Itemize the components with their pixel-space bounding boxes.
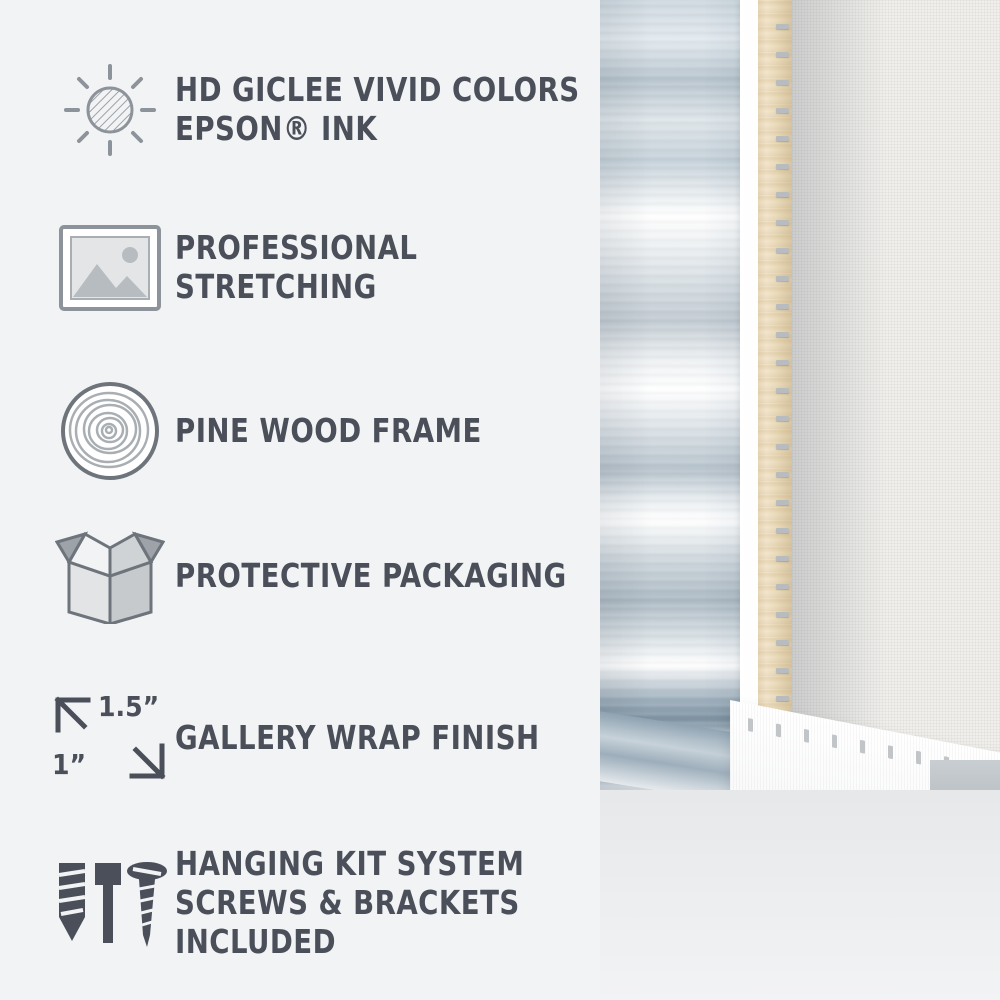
printed-edge-shading xyxy=(600,0,748,795)
sun-icon xyxy=(45,58,175,162)
feature-label-hanging-kit-system: HANGING KIT SYSTEM SCREWS & BRACKETS INC… xyxy=(175,845,589,962)
photo-floor xyxy=(600,790,1000,1000)
feature-item-protective-packaging: PROTECTIVE PACKAGING xyxy=(45,528,596,624)
feature-item-hanging-kit-system: HANGING KIT SYSTEM SCREWS & BRACKETS INC… xyxy=(45,845,620,962)
staple-row xyxy=(776,18,790,753)
feature-item-hd-giclee: HD GICLEE VIVID COLORS EPSON® INK xyxy=(45,58,610,162)
depth-label-1-5-inch: 1.5” xyxy=(98,690,159,723)
wrap-depth-arrows-icon: 1.5” 1” xyxy=(45,690,175,786)
feature-item-professional-stretching: PROFESSIONAL STRETCHING xyxy=(45,222,620,314)
wood-rings-icon xyxy=(45,378,175,484)
feature-item-pine-wood-frame: PINE WOOD FRAME xyxy=(45,378,505,484)
feature-label-gallery-wrap-finish: GALLERY WRAP FINISH xyxy=(175,719,540,758)
product-feature-graphic: HD GICLEE VIVID COLORS EPSON® INK PROFES… xyxy=(0,0,1000,1000)
feature-item-gallery-wrap-finish: 1.5” 1” GALLERY WRAP FINISH xyxy=(45,690,567,786)
open-box-icon xyxy=(45,528,175,624)
feature-label-hd-giclee: HD GICLEE VIVID COLORS EPSON® INK xyxy=(175,71,580,149)
framed-picture-icon xyxy=(45,222,175,314)
canvas-corner-photo xyxy=(600,0,1000,1000)
width-label-1-inch: 1” xyxy=(52,748,86,781)
screws-brackets-icon xyxy=(45,855,175,951)
feature-label-professional-stretching: PROFESSIONAL STRETCHING xyxy=(175,229,589,307)
feature-label-protective-packaging: PROTECTIVE PACKAGING xyxy=(175,557,567,596)
feature-list: HD GICLEE VIVID COLORS EPSON® INK PROFES… xyxy=(0,0,620,1000)
canvas-back-shading xyxy=(792,0,1000,760)
feature-label-pine-wood-frame: PINE WOOD FRAME xyxy=(175,412,482,451)
